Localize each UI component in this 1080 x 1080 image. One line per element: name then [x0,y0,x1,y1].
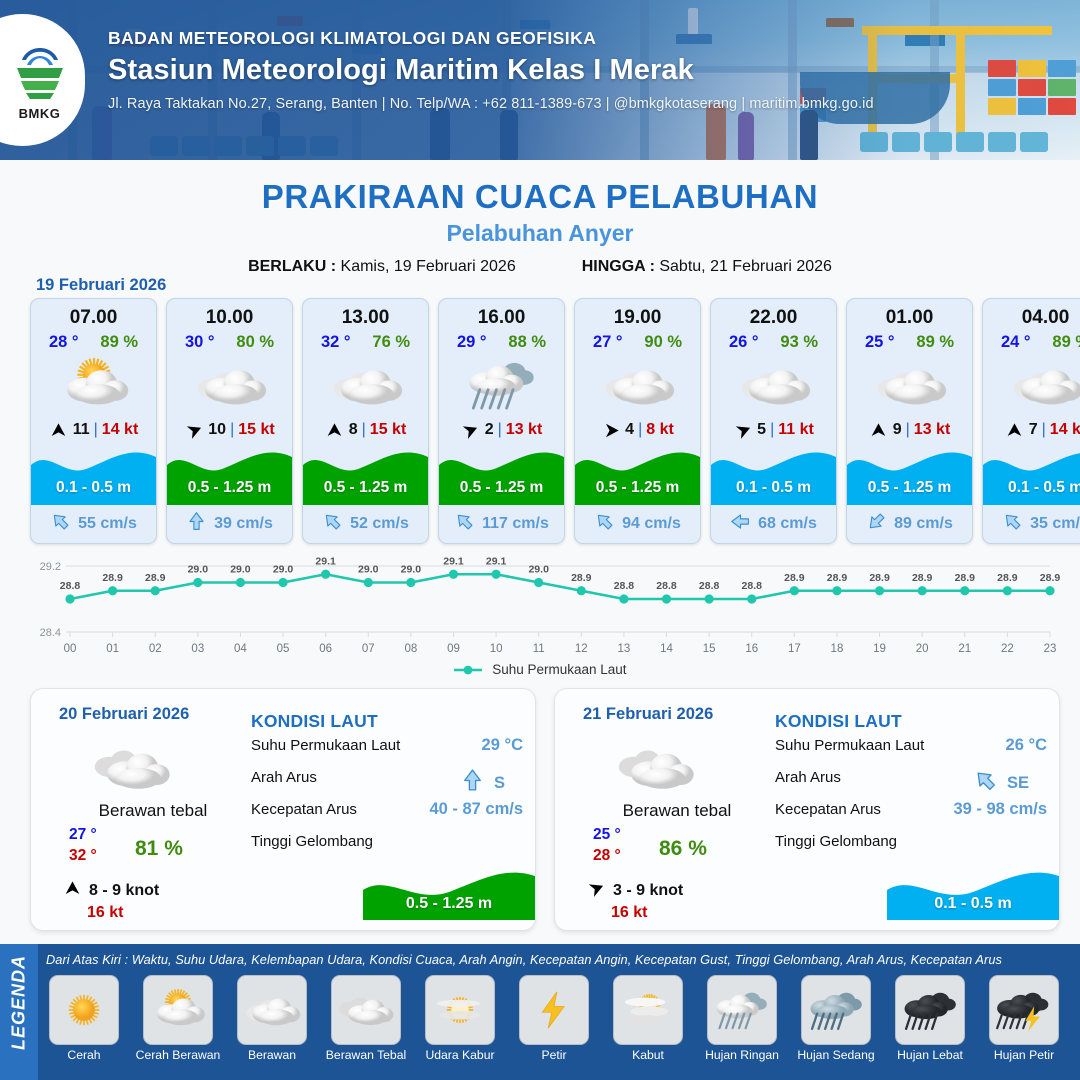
current-speed: 68 cm/s [758,515,817,533]
legend-item-label: Cerah [67,1049,100,1062]
current-speed: 117 cm/s [482,515,549,533]
wind-speed: 2 [485,421,494,439]
sst-chart-svg: 29.228.428.80028.90128.90229.00329.00429… [18,556,1062,676]
card-time: 16.00 [439,307,564,329]
legend-icon-cerah-berawan [143,975,213,1045]
card-wind: 8 | 15 kt [303,420,428,440]
panel-wave-height: 0.5 - 1.25 m [363,895,535,913]
wind-direction-arrow-icon [1005,420,1025,440]
daily-forecast-panels: 20 Februari 2026 Berawan tebal 27 ° 32 °… [30,688,1060,931]
wave-height: 0.1 - 0.5 m [711,479,836,497]
current-direction-arrow-icon [866,511,887,537]
wind-gust: 11 kt [778,421,814,439]
card-temperature: 26 ° [729,333,759,352]
panel-temperatures: 25 ° 28 ° [593,826,621,865]
card-temperature: 24 ° [1001,333,1031,352]
wind-speed: 8 [349,421,358,439]
card-time: 13.00 [303,307,428,329]
wind-gust: 15 kt [370,421,406,439]
wind-direction-arrow-icon [461,420,481,440]
card-humidity: 89 % [100,333,138,352]
panel-date: 21 Februari 2026 [583,705,713,724]
card-time: 07.00 [31,307,156,329]
wind-direction-arrow-icon [601,420,621,440]
svg-text:29.0: 29.0 [188,564,209,576]
wave-height: 0.5 - 1.25 m [167,479,292,497]
current-direction-arrow-icon [50,511,71,537]
weather-condition-icon [89,737,175,804]
svg-text:28.9: 28.9 [1040,572,1061,584]
svg-text:28.9: 28.9 [145,572,166,584]
panel-wind-speed: 3 - 9 knot [613,882,683,900]
legend-item: Berawan Tebal [322,975,410,1062]
card-current: 68 cm/s [711,511,836,537]
wave-height: 0.5 - 1.25 m [847,479,972,497]
weather-condition-icon [303,354,428,416]
wind-separator: | [770,421,774,439]
forecast-card[interactable]: 10.00 30 ° 80 % 10 | 15 kt 0.5 - 1.25 m … [166,298,293,544]
logo-text: BMKG [19,106,61,121]
forecast-card[interactable]: 01.00 25 ° 89 % 9 | 13 kt 0.5 - 1.25 m 8… [846,298,973,544]
sea-condition-row: Suhu Permukaan Laut26 °C [775,737,1051,764]
legend-icon-cerah [49,975,119,1045]
svg-text:28.9: 28.9 [102,572,123,584]
svg-text:00: 00 [64,643,77,655]
weather-condition-icon [847,354,972,416]
wind-direction-arrow-icon [63,879,82,903]
svg-text:28.8: 28.8 [614,580,635,592]
weather-condition-icon [167,354,292,416]
card-humidity: 89 % [916,333,954,352]
svg-text:08: 08 [404,643,417,655]
svg-text:12: 12 [575,643,588,655]
svg-text:01: 01 [106,643,119,655]
current-direction-label: SE [1007,774,1029,793]
panel-condition: Berawan tebal [577,801,777,821]
card-current: 55 cm/s [31,511,156,537]
svg-text:17: 17 [788,643,801,655]
legend-icon-hujan-petir [989,975,1059,1045]
legend-item-label: Berawan Tebal [326,1049,406,1062]
wind-separator: | [94,421,98,439]
logo-green-icon [15,66,65,100]
sea-row-label: Kecepatan Arus [775,801,881,818]
wind-speed: 10 [208,421,226,439]
card-temperature: 27 ° [593,333,623,352]
card-temperature: 30 ° [185,333,215,352]
card-current: 89 cm/s [847,511,972,537]
sea-row-label: Arah Arus [775,769,841,786]
panel-temp-min: 25 ° [593,826,621,844]
wind-speed: 9 [893,421,902,439]
card-current: 39 cm/s [167,511,292,537]
card-humidity: 88 % [508,333,546,352]
wind-gust: 13 kt [506,421,542,439]
legend-item: Cerah [40,975,128,1062]
wind-separator: | [906,421,910,439]
svg-text:28.8: 28.8 [656,580,677,592]
panel-gust: 16 kt [87,904,123,922]
svg-text:13: 13 [618,643,631,655]
svg-text:04: 04 [234,643,247,655]
current-direction-label: S [494,774,505,793]
svg-text:29.0: 29.0 [230,564,251,576]
legend-item: Hujan Petir [980,975,1068,1062]
wind-speed: 7 [1029,421,1038,439]
sea-row-label: Arah Arus [251,769,317,786]
wave-height: 0.5 - 1.25 m [439,479,564,497]
current-direction-arrow-icon [730,511,751,537]
weather-condition-icon [983,354,1080,416]
legend-icon-hujan-ringan [707,975,777,1045]
sea-conditions-title: KONDISI LAUT [251,711,527,732]
sst-chart: 29.228.428.80028.90128.90229.00329.00429… [18,556,1062,676]
legend-item: Hujan Lebat [886,975,974,1062]
legend-item-label: Udara Kabur [425,1049,494,1062]
sea-row-value: SE [973,768,1029,798]
card-time: 19.00 [575,307,700,329]
legend-icon-hujan-lebat [895,975,965,1045]
sea-conditions-block: KONDISI LAUT Suhu Permukaan Laut26 °C Ar… [775,711,1051,860]
svg-text:28.8: 28.8 [60,580,81,592]
svg-text:28.9: 28.9 [955,572,976,584]
panel-wind-speed: 8 - 9 knot [89,882,159,900]
current-direction-arrow-icon [1002,511,1023,537]
valid-to-label: HINGGA : [582,258,655,275]
legend-item-label: Hujan Lebat [897,1049,963,1062]
svg-text:16: 16 [745,643,758,655]
wind-speed: 5 [757,421,766,439]
panel-temp-max: 32 ° [69,847,97,865]
wind-direction-arrow-icon [184,420,204,440]
card-time: 01.00 [847,307,972,329]
validity-range: BERLAKU : Kamis, 19 Februari 2026 HINGGA… [0,258,1080,276]
svg-text:07: 07 [362,643,375,655]
svg-text:19: 19 [873,643,886,655]
svg-text:29.0: 29.0 [401,564,422,576]
station-name: Stasiun Meteorologi Maritim Kelas I Mera… [108,54,874,87]
card-time: 10.00 [167,307,292,329]
wind-separator: | [498,421,502,439]
panel-temperatures: 27 ° 32 ° [69,826,97,865]
svg-text:29.1: 29.1 [443,556,464,567]
card-humidity: 76 % [372,333,410,352]
wind-gust: 13 kt [914,421,950,439]
sea-conditions-title: KONDISI LAUT [775,711,1051,732]
card-temperature: 25 ° [865,333,895,352]
svg-text:28.8: 28.8 [699,580,720,592]
card-time: 22.00 [711,307,836,329]
forecast-card[interactable]: 07.00 28 ° 89 % 11 | 14 kt 0.1 - 0.5 m 5… [30,298,157,544]
wind-separator: | [230,421,234,439]
current-direction-arrow-icon [186,511,207,537]
card-temp-humidity: 32 ° 76 % [303,333,428,352]
svg-text:28.9: 28.9 [571,572,592,584]
legend-item: Petir [510,975,598,1062]
svg-text:29.0: 29.0 [273,564,294,576]
card-humidity: 80 % [236,333,274,352]
svg-text:09: 09 [447,643,460,655]
svg-text:28.9: 28.9 [912,572,933,584]
daily-forecast-panel[interactable]: 21 Februari 2026 Berawan tebal 25 ° 28 °… [554,688,1060,931]
current-speed: 52 cm/s [350,515,409,533]
sea-row-label: Tinggi Gelombang [775,833,897,850]
forecast-card[interactable]: 19.00 27 ° 90 % 4 | 8 kt 0.5 - 1.25 m 94… [574,298,701,544]
agency-name: BADAN METEOROLOGI KLIMATOLOGI DAN GEOFIS… [108,28,874,49]
svg-text:10: 10 [490,643,503,655]
svg-text:29.0: 29.0 [528,564,549,576]
card-time: 04.00 [983,307,1080,329]
valid-to-value: Sabtu, 21 Februari 2026 [659,258,832,275]
legend-item-label: Kabut [632,1049,664,1062]
sea-row-label: Suhu Permukaan Laut [251,737,400,754]
wind-direction-arrow-icon [869,420,889,440]
sea-row-label: Kecepatan Arus [251,801,357,818]
weather-condition-icon [711,354,836,416]
forecast-card[interactable]: 13.00 32 ° 76 % 8 | 15 kt 0.5 - 1.25 m 5… [302,298,429,544]
page-header: BMKG BADAN METEOROLOGI KLIMATOLOGI DAN G… [0,0,1080,160]
wind-separator: | [362,421,366,439]
current-direction-arrow-icon [322,511,343,537]
weather-condition-icon [439,354,564,416]
svg-text:29.2: 29.2 [40,561,61,573]
wind-gust: 8 kt [646,421,674,439]
wind-separator: | [1042,421,1046,439]
panel-wind: 3 - 9 knot [587,879,683,903]
card-wind: 2 | 13 kt [439,420,564,440]
current-direction-arrow-icon [973,768,998,798]
legend-item: Hujan Ringan [698,975,786,1062]
page-title: PRAKIRAAN CUACA PELABUHAN [0,178,1080,216]
legend-tab-label: LEGENDA [9,950,30,1056]
svg-text:21: 21 [958,643,971,655]
svg-text:02: 02 [149,643,162,655]
weather-condition-icon [613,737,699,804]
legend-icon-berawan-tebal [331,975,401,1045]
svg-text:06: 06 [319,643,332,655]
wave-height: 0.5 - 1.25 m [575,479,700,497]
legend-item-label: Hujan Ringan [705,1049,779,1062]
svg-text:11: 11 [533,643,545,655]
wind-direction-arrow-icon [49,420,69,440]
card-wind: 5 | 11 kt [711,420,836,440]
legend-item-label: Hujan Petir [994,1049,1054,1062]
current-direction-arrow-icon [454,511,475,537]
legend-marker-icon [453,664,483,676]
valid-from-value: Kamis, 19 Februari 2026 [341,258,516,275]
svg-text:20: 20 [916,643,929,655]
panel-date: 20 Februari 2026 [59,705,189,724]
current-speed: 94 cm/s [622,515,681,533]
forecast-card[interactable]: 04.00 24 ° 89 % 7 | 14 kt 0.1 - 0.5 m 35… [982,298,1080,544]
svg-text:22: 22 [1001,643,1014,655]
card-temperature: 29 ° [457,333,487,352]
card-wind: 7 | 14 kt [983,420,1080,440]
wave-height: 0.5 - 1.25 m [303,479,428,497]
wind-speed: 11 [73,421,90,439]
current-speed: 35 cm/s [1030,515,1080,533]
current-speed: 55 cm/s [78,515,137,533]
sea-condition-row: Kecepatan Arus40 - 87 cm/s [251,801,527,828]
svg-text:28.4: 28.4 [40,627,61,639]
sea-row-value: 40 - 87 cm/s [429,800,523,819]
panel-gust: 16 kt [611,904,647,922]
svg-text:28.9: 28.9 [784,572,805,584]
forecast-card[interactable]: 16.00 29 ° 88 % 2 | 13 kt 0.5 - 1.25 m 1… [438,298,565,544]
sea-condition-row: Arah Arus SE [775,769,1051,796]
sea-condition-row: Kecepatan Arus39 - 98 cm/s [775,801,1051,828]
current-speed: 39 cm/s [214,515,273,533]
svg-text:15: 15 [703,643,716,655]
valid-from: BERLAKU : Kamis, 19 Februari 2026 [248,258,516,276]
wind-gust: 14 kt [1050,421,1080,439]
legend-item-label: Cerah Berawan [136,1049,221,1062]
panel-humidity: 86 % [659,837,707,861]
legend-item: Hujan Sedang [792,975,880,1062]
legend-item-label: Hujan Sedang [797,1049,874,1062]
card-temp-humidity: 26 ° 93 % [711,333,836,352]
sea-condition-row: Suhu Permukaan Laut29 °C [251,737,527,764]
card-temperature: 32 ° [321,333,351,352]
legend-note: Dari Atas Kiri : Waktu, Suhu Udara, Kele… [46,952,1002,967]
sea-row-label: Tinggi Gelombang [251,833,373,850]
card-temp-humidity: 27 ° 90 % [575,333,700,352]
svg-text:29.1: 29.1 [315,556,336,567]
wind-direction-arrow-icon [325,420,345,440]
legend-item-label: Petir [541,1049,566,1062]
wave-height: 0.1 - 0.5 m [983,479,1080,497]
svg-text:28.9: 28.9 [827,572,848,584]
legend-icon-petir [519,975,589,1045]
svg-text:28.8: 28.8 [742,580,763,592]
wind-separator: | [638,421,642,439]
chart-legend: Suhu Permukaan Laut [0,662,1080,677]
hourly-forecast-row: 07.00 28 ° 89 % 11 | 14 kt 0.1 - 0.5 m 5… [30,298,1080,544]
sea-row-value: 29 °C [482,736,523,755]
svg-text:03: 03 [191,643,204,655]
svg-text:29.0: 29.0 [358,564,379,576]
panel-temp-max: 28 ° [593,847,621,865]
daily-forecast-panel[interactable]: 20 Februari 2026 Berawan tebal 27 ° 32 °… [30,688,536,931]
card-humidity: 89 % [1052,333,1080,352]
sea-condition-row: Tinggi Gelombang [775,833,1051,860]
chart-legend-label: Suhu Permukaan Laut [492,662,626,677]
card-temp-humidity: 28 ° 89 % [31,333,156,352]
svg-text:18: 18 [831,643,844,655]
header-text-block: BADAN METEOROLOGI KLIMATOLOGI DAN GEOFIS… [108,28,874,112]
card-temp-humidity: 29 ° 88 % [439,333,564,352]
legend-item: Cerah Berawan [134,975,222,1062]
panel-humidity: 81 % [135,837,183,861]
current-direction-arrow-icon [460,768,485,798]
sea-row-value: 39 - 98 cm/s [953,800,1047,819]
legend-icon-berawan [237,975,307,1045]
panel-wind: 8 - 9 knot [63,879,159,903]
card-temp-humidity: 24 ° 89 % [983,333,1080,352]
card-current: 35 cm/s [983,511,1080,537]
card-wind: 9 | 13 kt [847,420,972,440]
card-wind: 11 | 14 kt [31,420,156,440]
sea-condition-row: Tinggi Gelombang [251,833,527,860]
svg-text:28.9: 28.9 [997,572,1018,584]
card-wind: 10 | 15 kt [167,420,292,440]
weather-condition-icon [31,354,156,416]
wind-speed: 4 [625,421,634,439]
wind-direction-arrow-icon [733,420,753,440]
legend-item-label: Berawan [248,1049,296,1062]
card-current: 52 cm/s [303,511,428,537]
panel-condition: Berawan tebal [53,801,253,821]
wind-gust: 15 kt [238,421,274,439]
legend-bar: LEGENDA Dari Atas Kiri : Waktu, Suhu Uda… [0,944,1080,1080]
current-direction-arrow-icon [594,511,615,537]
svg-text:28.9: 28.9 [869,572,890,584]
legend-icon-udara-kabur [425,975,495,1045]
legend-item: Berawan [228,975,316,1062]
legend-icon-kabut [613,975,683,1045]
sea-conditions-block: KONDISI LAUT Suhu Permukaan Laut29 °C Ar… [251,711,527,860]
valid-from-label: BERLAKU : [248,258,336,275]
svg-text:23: 23 [1044,643,1057,655]
forecast-day-label: 19 Februari 2026 [36,276,166,295]
wind-gust: 14 kt [102,421,138,439]
card-wind: 4 | 8 kt [575,420,700,440]
valid-to: HINGGA : Sabtu, 21 Februari 2026 [582,258,832,276]
sea-row-label: Suhu Permukaan Laut [775,737,924,754]
sea-row-value: 26 °C [1006,736,1047,755]
page-subtitle: Pelabuhan Anyer [0,220,1080,247]
legend-icon-hujan-sedang [801,975,871,1045]
card-current: 94 cm/s [575,511,700,537]
legend-item: Kabut [604,975,692,1062]
legend-tab: LEGENDA [0,944,38,1080]
card-humidity: 90 % [644,333,682,352]
contact-info: Jl. Raya Taktakan No.27, Serang, Banten … [108,96,874,112]
legend-item: Udara Kabur [416,975,504,1062]
card-humidity: 93 % [780,333,818,352]
weather-condition-icon [575,354,700,416]
panel-temp-min: 27 ° [69,826,97,844]
wave-height: 0.1 - 0.5 m [31,479,156,497]
svg-text:05: 05 [277,643,290,655]
logo-blue-waves-icon [18,40,62,66]
bmkg-logo-mark [13,40,67,104]
panel-wave-height: 0.1 - 0.5 m [887,895,1059,913]
card-current: 117 cm/s [439,511,564,537]
current-speed: 89 cm/s [894,515,953,533]
forecast-card[interactable]: 22.00 26 ° 93 % 5 | 11 kt 0.1 - 0.5 m 68… [710,298,837,544]
wind-direction-arrow-icon [587,879,606,903]
sea-row-value: S [460,768,505,798]
card-temp-humidity: 25 ° 89 % [847,333,972,352]
sea-condition-row: Arah Arus S [251,769,527,796]
svg-text:14: 14 [660,643,673,655]
legend-icon-list: Cerah Cerah Berawan Berawan Berawan Teba… [40,975,1080,1062]
card-temp-humidity: 30 ° 80 % [167,333,292,352]
svg-text:29.1: 29.1 [486,556,507,567]
card-temperature: 28 ° [49,333,79,352]
